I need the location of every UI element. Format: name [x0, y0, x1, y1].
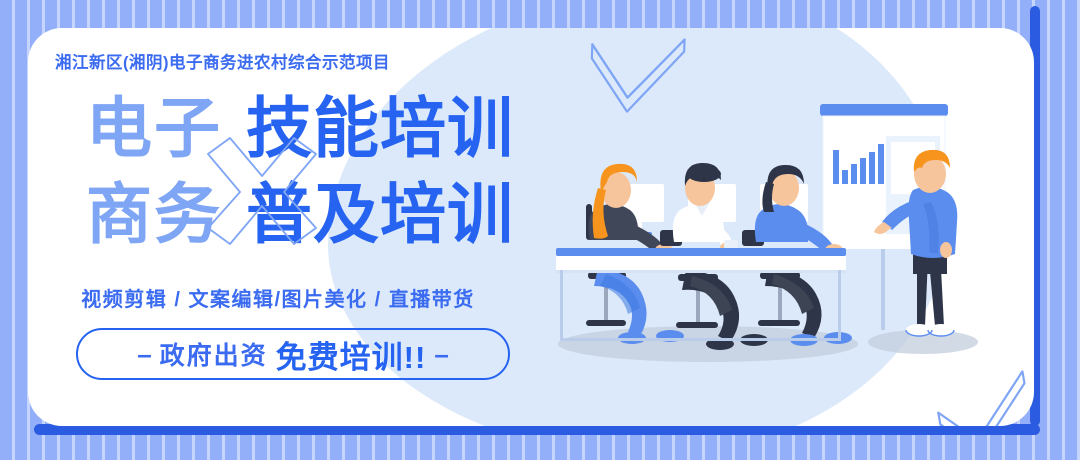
cta-pill[interactable]: – 政府出资 免费培训!! –	[76, 328, 510, 380]
cta-dash-right: –	[434, 341, 448, 367]
cta-strong-text: 免费培训!!	[276, 332, 427, 377]
cta-dash-left: –	[137, 341, 151, 367]
project-header-label: 湘江新区(湘阴)电子商务进农村综合示范项目	[55, 49, 390, 73]
content-card: 湘江新区(湘阴)电子商务进农村综合示范项目 电子 商务 技能培训 普及培训 视频…	[28, 28, 1034, 426]
subtitle-text: 视频剪辑 / 文案编辑/图片美化 / 直播带货	[28, 283, 528, 312]
classroom-illustration	[528, 52, 1034, 402]
cta-normal-text: 政府出资	[160, 336, 268, 372]
x-divider-icon	[202, 136, 322, 246]
title-block: 电子 商务 技能培训 普及培训	[52, 86, 552, 266]
promo-banner: 湘江新区(湘阴)电子商务进农村综合示范项目 电子 商务 技能培训 普及培训 视频…	[0, 0, 1080, 460]
